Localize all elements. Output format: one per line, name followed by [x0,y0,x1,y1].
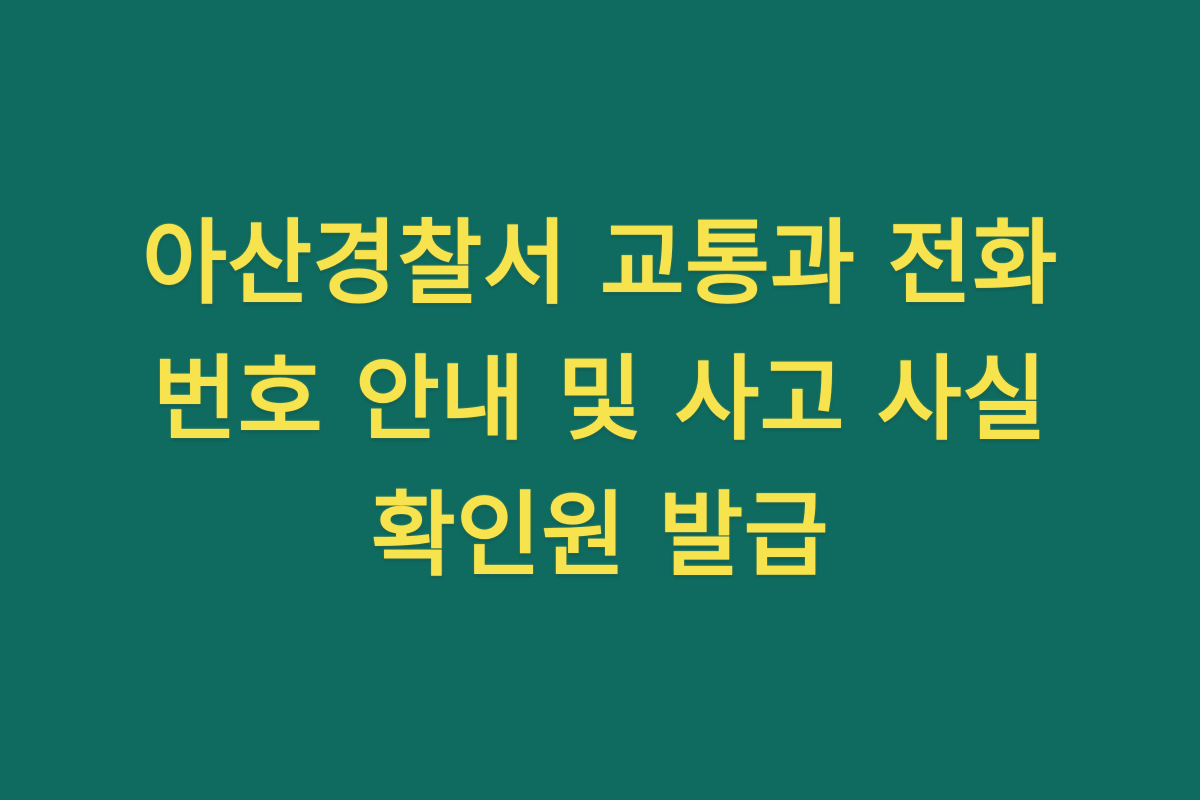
poster-canvas: 아산경찰서 교통과 전화 번호 안내 및 사고 사실 확인원 발급 [0,0,1200,800]
page-title: 아산경찰서 교통과 전화 번호 안내 및 사고 사실 확인원 발급 [50,196,1150,604]
headline-line-3: 확인원 발급 [50,468,1150,604]
headline-line-1: 아산경찰서 교통과 전화 [50,196,1150,332]
headline-line-2: 번호 안내 및 사고 사실 [50,332,1150,468]
headline-block: 아산경찰서 교통과 전화 번호 안내 및 사고 사실 확인원 발급 [30,196,1170,604]
